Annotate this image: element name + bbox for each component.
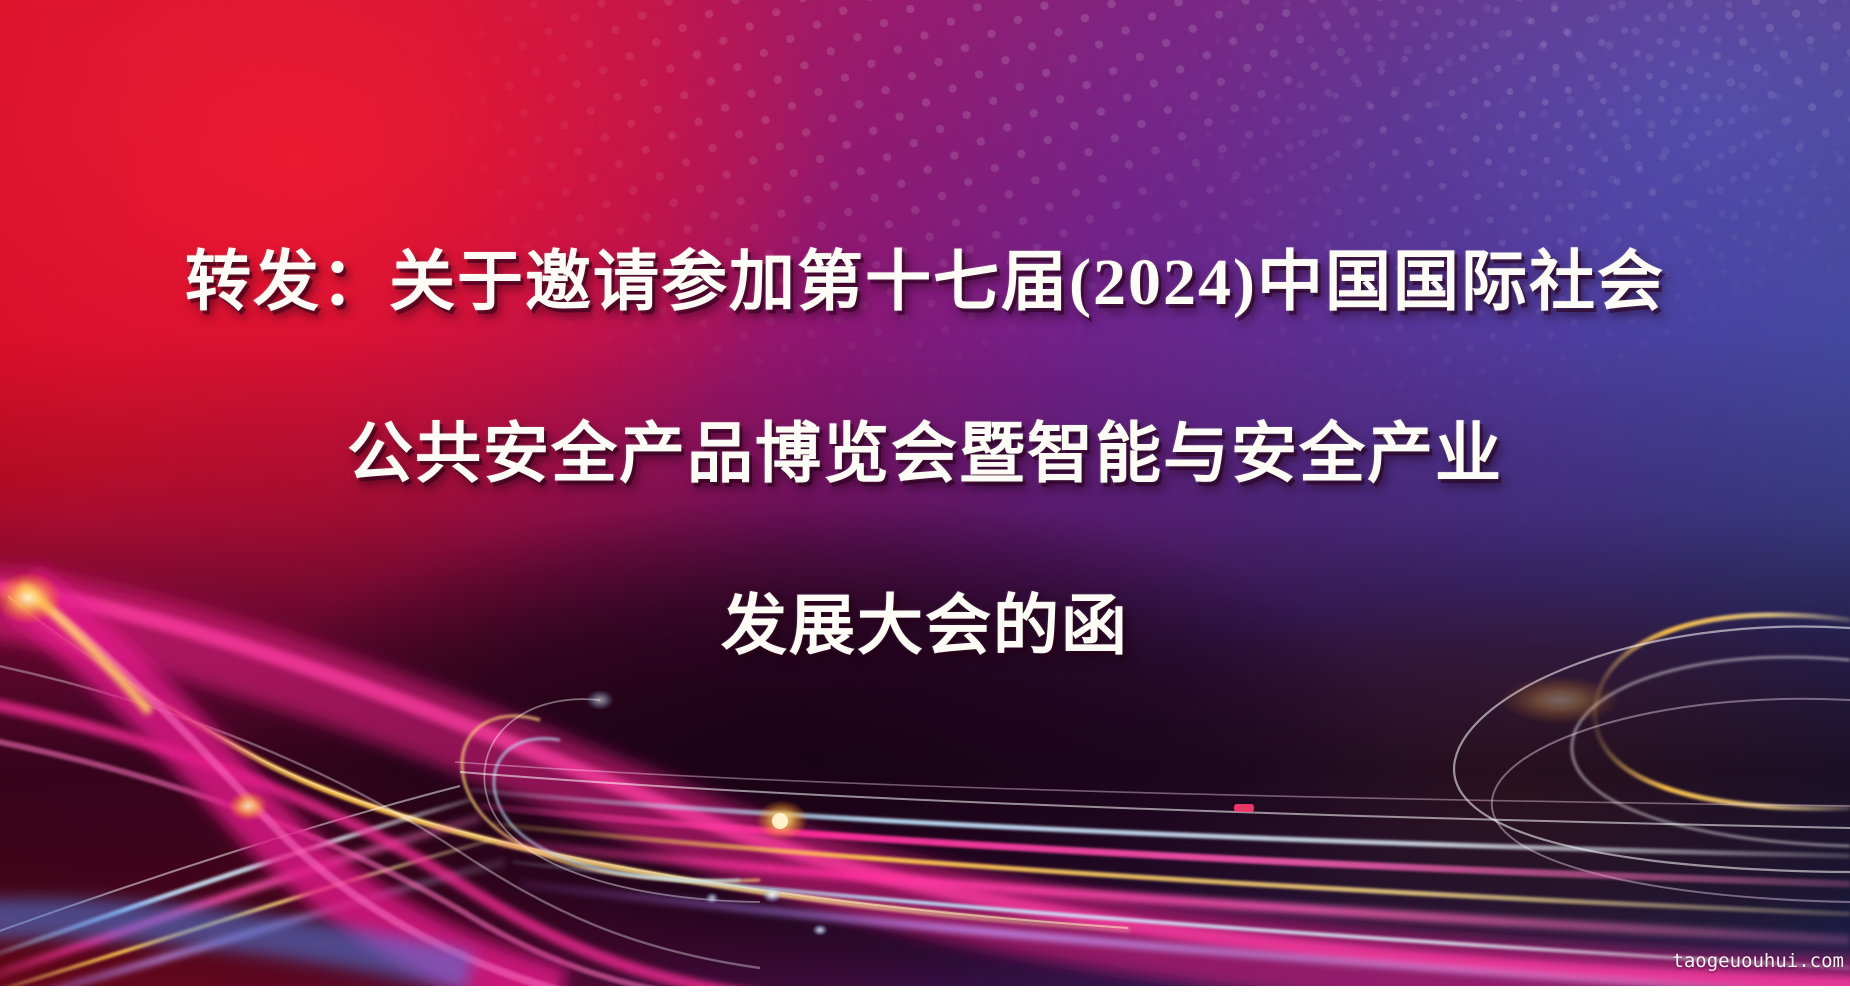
poster-canvas: 转发：关于邀请参加第十七届(2024)中国国际社会 公共安全产品博览会暨智能与安… xyxy=(0,0,1850,1000)
headline-line-1: 转发：关于邀请参加第十七届(2024)中国国际社会 xyxy=(185,245,1665,321)
poster-artwork: 转发：关于邀请参加第十七届(2024)中国国际社会 公共安全产品博览会暨智能与安… xyxy=(0,0,1850,986)
bottom-white-strip xyxy=(0,986,1850,1000)
headline-line-2: 公共安全产品博览会暨智能与安全产业 xyxy=(347,417,1503,493)
headline-block: 转发：关于邀请参加第十七届(2024)中国国际社会 公共安全产品博览会暨智能与安… xyxy=(0,0,1850,986)
headline-line-3: 发展大会的函 xyxy=(721,589,1129,665)
site-watermark: taogeuouhui.com xyxy=(1672,950,1844,972)
